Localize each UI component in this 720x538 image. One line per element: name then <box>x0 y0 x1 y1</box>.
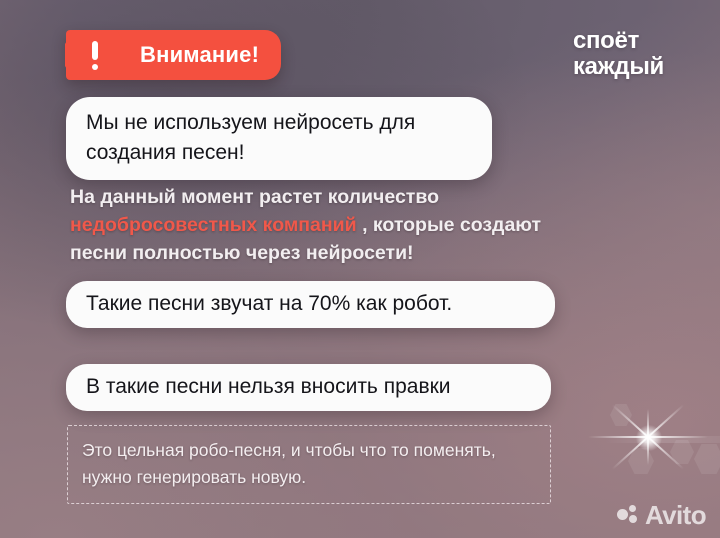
attention-banner: Внимание! <box>66 30 281 80</box>
body-paragraph: На данный момент растет количество недоб… <box>70 184 580 268</box>
avito-dot-medium <box>629 515 637 523</box>
flare-ray <box>612 404 685 470</box>
exclamation-stem <box>92 41 98 60</box>
exclamation-icon <box>65 30 125 80</box>
attention-pill: Внимание! <box>66 30 281 80</box>
flare-core-icon <box>636 425 662 451</box>
attention-label: Внимание! <box>140 42 259 68</box>
avito-dots-icon <box>617 505 639 525</box>
exclamation-dot <box>92 64 98 70</box>
bokeh-hexagon-icon <box>610 404 632 426</box>
bokeh-hexagon-icon <box>670 440 694 464</box>
flare-streak <box>604 436 720 443</box>
paragraph-highlight: недобросовестных компаний <box>70 214 357 236</box>
flare-ray <box>647 409 649 465</box>
paragraph-part-1: На данный момент растет количество <box>70 186 439 208</box>
brand-line-2: каждый <box>573 54 664 80</box>
dashed-note: Это цельная робо-песня, и чтобы что то п… <box>67 425 551 504</box>
exclamation-glyph <box>92 41 98 70</box>
message-bubble-2: Такие песни звучат на 70% как робот. <box>66 281 555 328</box>
avito-watermark: Avito <box>617 502 706 528</box>
avito-wordmark: Avito <box>645 502 706 528</box>
avito-dot-small <box>629 505 636 512</box>
brand-line-1: споёт <box>573 28 664 54</box>
lens-flare-decoration <box>584 398 720 508</box>
flare-ray <box>588 436 708 438</box>
poster-canvas: Внимание! споёт каждый Мы не используем … <box>0 0 720 538</box>
bokeh-hexagon-icon <box>694 444 720 474</box>
brand-logo: споёт каждый <box>573 28 664 80</box>
message-bubble-1: Мы не используем нейросеть для создания … <box>66 97 492 180</box>
bokeh-hexagon-icon <box>628 448 654 474</box>
avito-dot-large <box>617 509 628 520</box>
flare-ray <box>612 404 685 470</box>
message-bubble-3: В такие песни нельзя вносить правки <box>66 364 551 411</box>
